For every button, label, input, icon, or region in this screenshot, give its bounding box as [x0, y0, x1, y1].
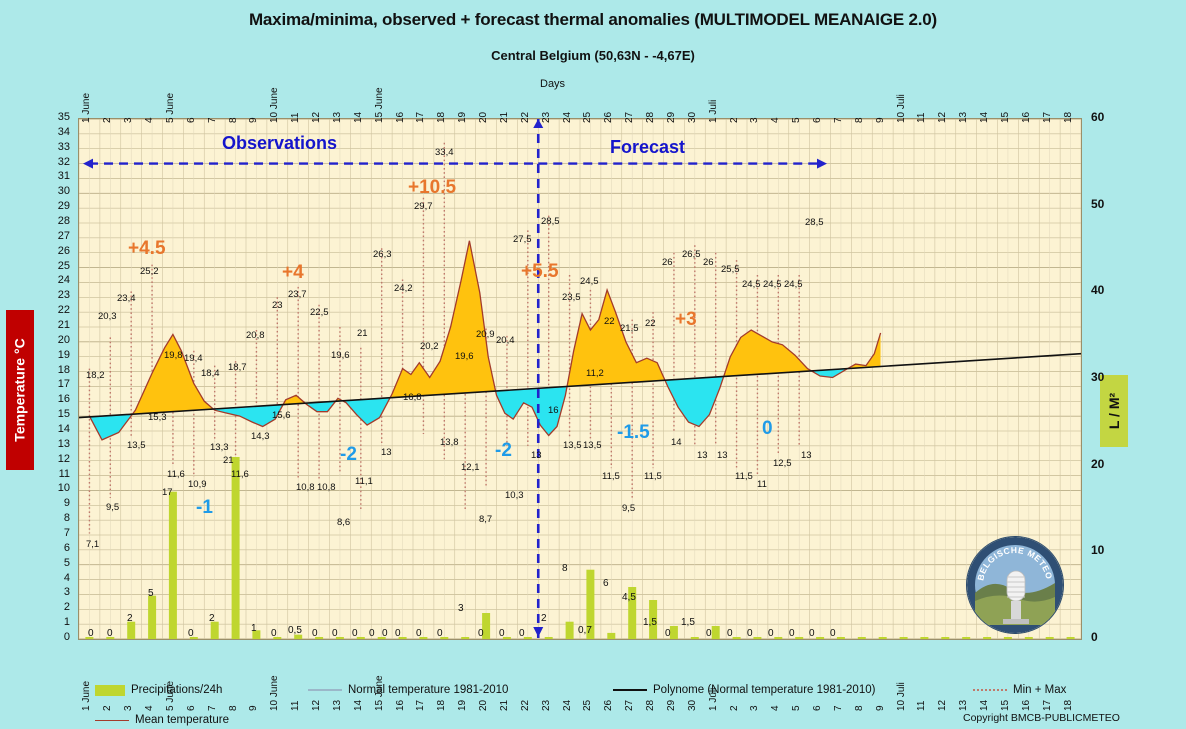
- precipitation-label: 0: [519, 628, 525, 639]
- page-title: Maxima/minima, observed + forecast therm…: [0, 10, 1186, 30]
- legend-item-min-max: Min + Max: [973, 684, 1066, 696]
- x-tick-bottom: 3: [123, 705, 134, 711]
- y-tick-left: 21: [44, 319, 70, 331]
- x-tick-top: 9: [875, 117, 886, 123]
- data-point-label: 19,6: [455, 351, 474, 362]
- x-tick-bottom: 20: [478, 700, 489, 711]
- data-point-label: 13: [697, 450, 708, 461]
- y-tick-left: 32: [44, 156, 70, 168]
- x-tick-bottom: 22: [520, 700, 531, 711]
- data-point-label: 20,4: [496, 335, 515, 346]
- x-tick-top: 7: [833, 117, 844, 123]
- x-tick-top: 12: [311, 112, 322, 123]
- data-point-label: 28,5: [805, 217, 824, 228]
- chart-canvas: Maxima/minima, observed + forecast therm…: [0, 0, 1186, 729]
- data-point-label: 9,5: [106, 502, 119, 513]
- y-tick-left: 12: [44, 453, 70, 465]
- data-point-label: 12,5: [773, 458, 792, 469]
- x-tick-top: 29: [666, 112, 677, 123]
- data-point-label: 11,5: [735, 471, 753, 482]
- plot-svg: [79, 119, 1081, 639]
- x-tick-bottom: 25: [582, 700, 593, 711]
- bmcb-logo: BELGISCHE METEO CLUB BELGE: [966, 536, 1064, 634]
- precipitation-label: 0: [352, 628, 358, 639]
- precipitation-label: 0: [332, 628, 338, 639]
- data-point-label: 11,5: [644, 471, 662, 482]
- precipitation-label: 0: [107, 628, 113, 639]
- x-tick-bottom: 24: [562, 700, 573, 711]
- data-point-label: 18,4: [201, 368, 220, 379]
- data-point-label: 22: [604, 316, 615, 327]
- data-point-label: 9,5: [622, 503, 635, 514]
- x-tick-top: 24: [562, 112, 573, 123]
- x-tick-bottom: 23: [541, 700, 552, 711]
- x-tick-top: 15: [1000, 112, 1011, 123]
- legend-label: Polynome (Normal temperature 1981-2010): [653, 684, 875, 696]
- precipitation-label: 3: [458, 603, 464, 614]
- y-tick-left: 18: [44, 364, 70, 376]
- precipitation-label: 0: [188, 628, 194, 639]
- data-point-label: 21: [223, 455, 234, 466]
- y-tick-left: 27: [44, 230, 70, 242]
- x-tick-top: 10 June: [269, 87, 280, 123]
- x-tick-top: 5 June: [165, 93, 176, 123]
- x-tick-top: 2: [102, 117, 113, 123]
- y-tick-left: 1: [44, 616, 70, 628]
- precipitation-label: 0: [312, 628, 318, 639]
- data-point-label: 18,7: [228, 362, 247, 373]
- data-point-label: 18,2: [86, 370, 105, 381]
- x-tick-top: 13: [332, 112, 343, 123]
- x-tick-top: 16: [395, 112, 406, 123]
- data-point-label: 19,8: [164, 350, 183, 361]
- data-point-label: 11: [757, 479, 767, 490]
- precipitation-axis-label: L / M²: [1100, 375, 1128, 447]
- data-point-label: 19,4: [184, 353, 203, 364]
- x-tick-top: 28: [645, 112, 656, 123]
- data-point-label: 23,5: [562, 292, 581, 303]
- data-point-label: 25,2: [140, 266, 159, 277]
- data-point-label: 28,5: [541, 216, 560, 227]
- y-tick-left: 31: [44, 170, 70, 182]
- x-tick-bottom: 14: [979, 700, 990, 711]
- data-point-label: 11,6: [231, 469, 249, 480]
- y-tick-right: 10: [1091, 543, 1121, 557]
- x-tick-bottom: 11: [916, 701, 927, 711]
- anomaly-label: -1.5: [617, 422, 650, 444]
- data-point-label: 23: [272, 300, 283, 311]
- data-point-label: 26: [703, 257, 714, 268]
- x-tick-bottom: 17: [1042, 700, 1053, 711]
- x-tick-bottom: 28: [645, 700, 656, 711]
- data-point-label: 20,8: [246, 330, 265, 341]
- data-point-label: 15,6: [272, 410, 291, 421]
- legend-item-polynome: Polynome (Normal temperature 1981-2010): [613, 684, 875, 696]
- legend-item-mean-temperature: Mean temperature: [95, 714, 229, 726]
- data-point-label: 24,5: [742, 279, 761, 290]
- y-tick-right: 50: [1091, 197, 1121, 211]
- legend-label: Precipitations/24h: [131, 684, 222, 696]
- precipitation-label: 0: [437, 628, 443, 639]
- temperature-axis-label-text: Temperature °C: [12, 338, 28, 441]
- data-point-label: 24,2: [394, 283, 413, 294]
- data-point-label: 24,5: [763, 279, 782, 290]
- y-tick-left: 16: [44, 393, 70, 405]
- x-tick-top: 3: [749, 117, 760, 123]
- x-tick-bottom: 21: [499, 700, 510, 711]
- y-tick-left: 6: [44, 542, 70, 554]
- precipitation-label: 0: [727, 628, 733, 639]
- data-point-label: 8,6: [337, 517, 350, 528]
- min-max-dotted-icon: [973, 689, 1007, 691]
- x-tick-top: 12: [937, 112, 948, 123]
- y-tick-left: 26: [44, 245, 70, 257]
- precipitation-label: 2: [541, 613, 547, 624]
- precipitation-label: 0: [789, 628, 795, 639]
- data-point-label: 13,3: [210, 442, 229, 453]
- x-tick-top: 9: [248, 117, 259, 123]
- anomaly-label: +3: [675, 309, 697, 331]
- y-tick-right: 30: [1091, 370, 1121, 384]
- precipitation-label: 0,5: [288, 625, 302, 636]
- x-tick-top: 15 June: [374, 87, 385, 123]
- anomaly-label: -2: [495, 440, 512, 462]
- x-tick-bottom: 9: [248, 705, 259, 711]
- data-point-label: 15,3: [148, 412, 167, 423]
- y-tick-left: 8: [44, 512, 70, 524]
- data-point-label: 13: [801, 450, 812, 461]
- data-point-label: 16: [548, 405, 559, 416]
- x-tick-bottom: 18: [436, 700, 447, 711]
- data-point-label: 13: [717, 450, 728, 461]
- y-tick-right: 40: [1091, 283, 1121, 297]
- x-tick-top: 14: [353, 112, 364, 123]
- y-tick-left: 19: [44, 349, 70, 361]
- data-point-label: 22,5: [310, 307, 329, 318]
- x-tick-top: 17: [1042, 112, 1053, 123]
- y-tick-left: 30: [44, 185, 70, 197]
- x-tick-bottom: 16: [1021, 700, 1032, 711]
- precipitation-label: 1,5: [681, 617, 695, 628]
- y-tick-right: 0: [1091, 630, 1121, 644]
- legend-label: Mean temperature: [135, 714, 229, 726]
- y-tick-right: 20: [1091, 457, 1121, 471]
- precipitation-label: 0: [747, 628, 753, 639]
- data-point-label: 13,5: [127, 440, 146, 451]
- data-point-label: 13,8: [440, 437, 459, 448]
- data-point-label: 21: [357, 328, 368, 339]
- y-tick-left: 10: [44, 482, 70, 494]
- x-tick-bottom: 12: [311, 700, 322, 711]
- x-tick-bottom: 8: [854, 705, 865, 711]
- y-tick-left: 35: [44, 111, 70, 123]
- x-tick-bottom: 12: [937, 700, 948, 711]
- x-tick-top: 17: [415, 112, 426, 123]
- legend-item-normal-temperature: Normal temperature 1981-2010: [308, 684, 508, 696]
- data-point-label: 21,5: [620, 323, 639, 334]
- precipitation-label: 8: [562, 563, 568, 574]
- y-tick-right: 60: [1091, 110, 1121, 124]
- precipitation-label: 0,7: [578, 625, 592, 636]
- x-tick-top: 5: [791, 117, 802, 123]
- x-tick-top: 16: [1021, 112, 1032, 123]
- y-tick-left: 33: [44, 141, 70, 153]
- data-point-label: 11,2: [586, 368, 604, 379]
- mean-temperature-line-icon: [95, 720, 129, 721]
- y-tick-left: 22: [44, 304, 70, 316]
- x-tick-bottom: 13: [958, 700, 969, 711]
- data-point-label: 23,7: [288, 289, 307, 300]
- x-tick-top: 11: [916, 113, 927, 123]
- x-tick-bottom: 6: [812, 705, 823, 711]
- x-tick-top: 19: [457, 112, 468, 123]
- days-axis-label: Days: [540, 78, 565, 90]
- observations-label: Observations: [222, 133, 337, 154]
- data-point-label: 23,4: [117, 293, 136, 304]
- x-tick-bottom: 8: [228, 705, 239, 711]
- y-tick-left: 9: [44, 497, 70, 509]
- anomaly-label: +10.5: [408, 177, 456, 199]
- data-point-label: 10,8: [296, 482, 315, 493]
- data-point-label: 13: [531, 450, 542, 461]
- data-point-label: 25,5: [721, 264, 740, 275]
- y-tick-left: 13: [44, 438, 70, 450]
- legend-label: Min + Max: [1013, 684, 1066, 696]
- x-tick-bottom: 4: [770, 705, 781, 711]
- precipitation-label: 2: [127, 613, 133, 624]
- x-tick-top: 22: [520, 112, 531, 123]
- x-tick-bottom: 18: [1063, 700, 1074, 711]
- x-tick-bottom: 9: [875, 705, 886, 711]
- x-tick-bottom: 2: [102, 705, 113, 711]
- x-tick-top: 1 Juli: [708, 100, 719, 123]
- copyright-text: Copyright BMCB-PUBLICMETEO: [963, 712, 1120, 724]
- data-point-label: 33,4: [435, 147, 454, 158]
- page-subtitle: Central Belgium (50,63N - -4,67E): [0, 48, 1186, 63]
- y-tick-left: 28: [44, 215, 70, 227]
- precipitation-label: 4,5: [622, 592, 636, 603]
- y-tick-left: 25: [44, 260, 70, 272]
- precipitation-label: 0: [768, 628, 774, 639]
- x-tick-top: 8: [228, 117, 239, 123]
- precipitation-label: 0: [706, 628, 712, 639]
- data-point-label: 11,1: [355, 476, 373, 487]
- y-tick-left: 20: [44, 334, 70, 346]
- anomaly-label: -2: [340, 444, 357, 466]
- x-tick-bottom: 11: [290, 701, 301, 711]
- data-point-label: 10,3: [505, 490, 524, 501]
- data-point-label: 19,6: [331, 350, 350, 361]
- y-tick-left: 3: [44, 586, 70, 598]
- data-point-label: 20,2: [420, 341, 439, 352]
- data-point-label: 8,7: [479, 514, 492, 525]
- precipitation-label: 0: [478, 628, 484, 639]
- precipitation-axis-label-text: L / M²: [1106, 393, 1122, 429]
- x-tick-top: 23: [541, 112, 552, 123]
- data-point-label: 10,9: [188, 479, 207, 490]
- x-tick-top: 18: [1063, 112, 1074, 123]
- precipitation-label: 0: [395, 628, 401, 639]
- x-tick-top: 8: [854, 117, 865, 123]
- x-tick-bottom: 7: [207, 705, 218, 711]
- x-tick-top: 3: [123, 117, 134, 123]
- legend-label: Normal temperature 1981-2010: [348, 684, 508, 696]
- forecast-label: Forecast: [610, 137, 685, 158]
- data-point-label: 16,8: [403, 392, 422, 403]
- x-tick-top: 18: [436, 112, 447, 123]
- anomaly-label: +4.5: [128, 238, 166, 260]
- x-tick-top: 27: [624, 112, 635, 123]
- y-tick-left: 23: [44, 289, 70, 301]
- x-tick-top: 4: [770, 117, 781, 123]
- data-point-label: 29,7: [414, 201, 433, 212]
- x-tick-top: 25: [582, 112, 593, 123]
- x-tick-top: 7: [207, 117, 218, 123]
- anomaly-label: +4: [282, 262, 304, 284]
- data-point-label: 12,1: [461, 462, 480, 473]
- x-tick-bottom: 26: [603, 700, 614, 711]
- data-point-label: 24,5: [580, 276, 599, 287]
- x-tick-bottom: 5: [791, 705, 802, 711]
- precipitation-swatch-icon: [95, 685, 125, 696]
- x-tick-bottom: 29: [666, 700, 677, 711]
- y-tick-left: 5: [44, 557, 70, 569]
- precipitation-label: 0: [369, 628, 375, 639]
- x-tick-top: 6: [186, 117, 197, 123]
- data-point-label: 20,9: [476, 329, 495, 340]
- x-tick-bottom: 13: [332, 700, 343, 711]
- x-tick-bottom: 14: [353, 700, 364, 711]
- y-tick-left: 4: [44, 572, 70, 584]
- y-tick-left: 14: [44, 423, 70, 435]
- precipitation-label: 2: [209, 613, 215, 624]
- data-point-label: 10,8: [317, 482, 336, 493]
- data-point-label: 13,5: [563, 440, 582, 451]
- y-tick-left: 7: [44, 527, 70, 539]
- data-point-label: 22: [645, 318, 656, 329]
- x-tick-top: 10 Juli: [896, 94, 907, 123]
- precipitation-label: 0: [88, 628, 94, 639]
- y-tick-left: 34: [44, 126, 70, 138]
- y-tick-left: 11: [44, 468, 70, 480]
- y-tick-left: 15: [44, 408, 70, 420]
- precipitation-label: 0: [416, 628, 422, 639]
- y-tick-left: 29: [44, 200, 70, 212]
- precipitation-label: 0: [665, 628, 671, 639]
- data-point-label: 24,5: [784, 279, 803, 290]
- data-point-label: 26,3: [373, 249, 392, 260]
- x-tick-bottom: 10 June: [269, 675, 280, 711]
- x-tick-top: 26: [603, 112, 614, 123]
- data-point-label: 13: [381, 447, 392, 458]
- normal-temperature-line-icon: [308, 689, 342, 691]
- data-point-label: 11,5: [602, 471, 620, 482]
- x-tick-top: 30: [687, 112, 698, 123]
- y-tick-left: 24: [44, 274, 70, 286]
- anomaly-label: +5.5: [521, 261, 559, 283]
- x-tick-bottom: 4: [144, 705, 155, 711]
- y-tick-left: 0: [44, 631, 70, 643]
- x-tick-bottom: 6: [186, 705, 197, 711]
- anomaly-label: 0: [762, 418, 773, 440]
- precipitation-label: 1,5: [643, 617, 657, 628]
- polynome-line-icon: [613, 689, 647, 691]
- x-tick-bottom: 16: [395, 700, 406, 711]
- temperature-axis-label: Temperature °C: [6, 310, 34, 470]
- x-tick-bottom: 1 June: [81, 681, 92, 711]
- anomaly-label: -1: [196, 497, 213, 519]
- precipitation-label: 0: [499, 628, 505, 639]
- data-point-label: 14: [671, 437, 682, 448]
- x-tick-top: 13: [958, 112, 969, 123]
- x-tick-bottom: 19: [457, 700, 468, 711]
- data-point-label: 20,3: [98, 311, 117, 322]
- data-point-label: 26: [662, 257, 673, 268]
- precipitation-label: 5: [148, 588, 154, 599]
- data-point-label: 14,3: [251, 431, 270, 442]
- x-tick-top: 21: [499, 112, 510, 123]
- data-point-label: 17: [162, 487, 173, 498]
- precipitation-label: 0: [271, 628, 277, 639]
- data-point-label: 26,5: [682, 249, 701, 260]
- precipitation-label: 0: [382, 628, 388, 639]
- x-tick-bottom: 15: [1000, 700, 1011, 711]
- x-tick-top: 6: [812, 117, 823, 123]
- data-point-label: 13,5: [583, 440, 602, 451]
- x-tick-bottom: 3: [749, 705, 760, 711]
- precipitation-label: 1: [251, 623, 257, 634]
- x-tick-bottom: 27: [624, 700, 635, 711]
- plot-area: [78, 118, 1082, 640]
- data-point-label: 11,6: [167, 469, 185, 480]
- y-tick-left: 17: [44, 378, 70, 390]
- y-tick-left: 2: [44, 601, 70, 613]
- x-tick-top: 11: [290, 113, 301, 123]
- x-tick-bottom: 7: [833, 705, 844, 711]
- x-tick-top: 1 June: [81, 93, 92, 123]
- x-tick-bottom: 10 Juli: [896, 682, 907, 711]
- data-point-label: 27,5: [513, 234, 532, 245]
- precipitation-label: 6: [603, 578, 609, 589]
- data-point-label: 7,1: [86, 539, 99, 550]
- legend-item-precipitations: Precipitations/24h: [95, 684, 222, 696]
- x-tick-bottom: 17: [415, 700, 426, 711]
- x-tick-bottom: 30: [687, 700, 698, 711]
- x-tick-top: 2: [729, 117, 740, 123]
- x-tick-top: 4: [144, 117, 155, 123]
- x-tick-top: 20: [478, 112, 489, 123]
- precipitation-label: 0: [830, 628, 836, 639]
- x-tick-top: 14: [979, 112, 990, 123]
- x-tick-bottom: 2: [729, 705, 740, 711]
- precipitation-label: 0: [809, 628, 815, 639]
